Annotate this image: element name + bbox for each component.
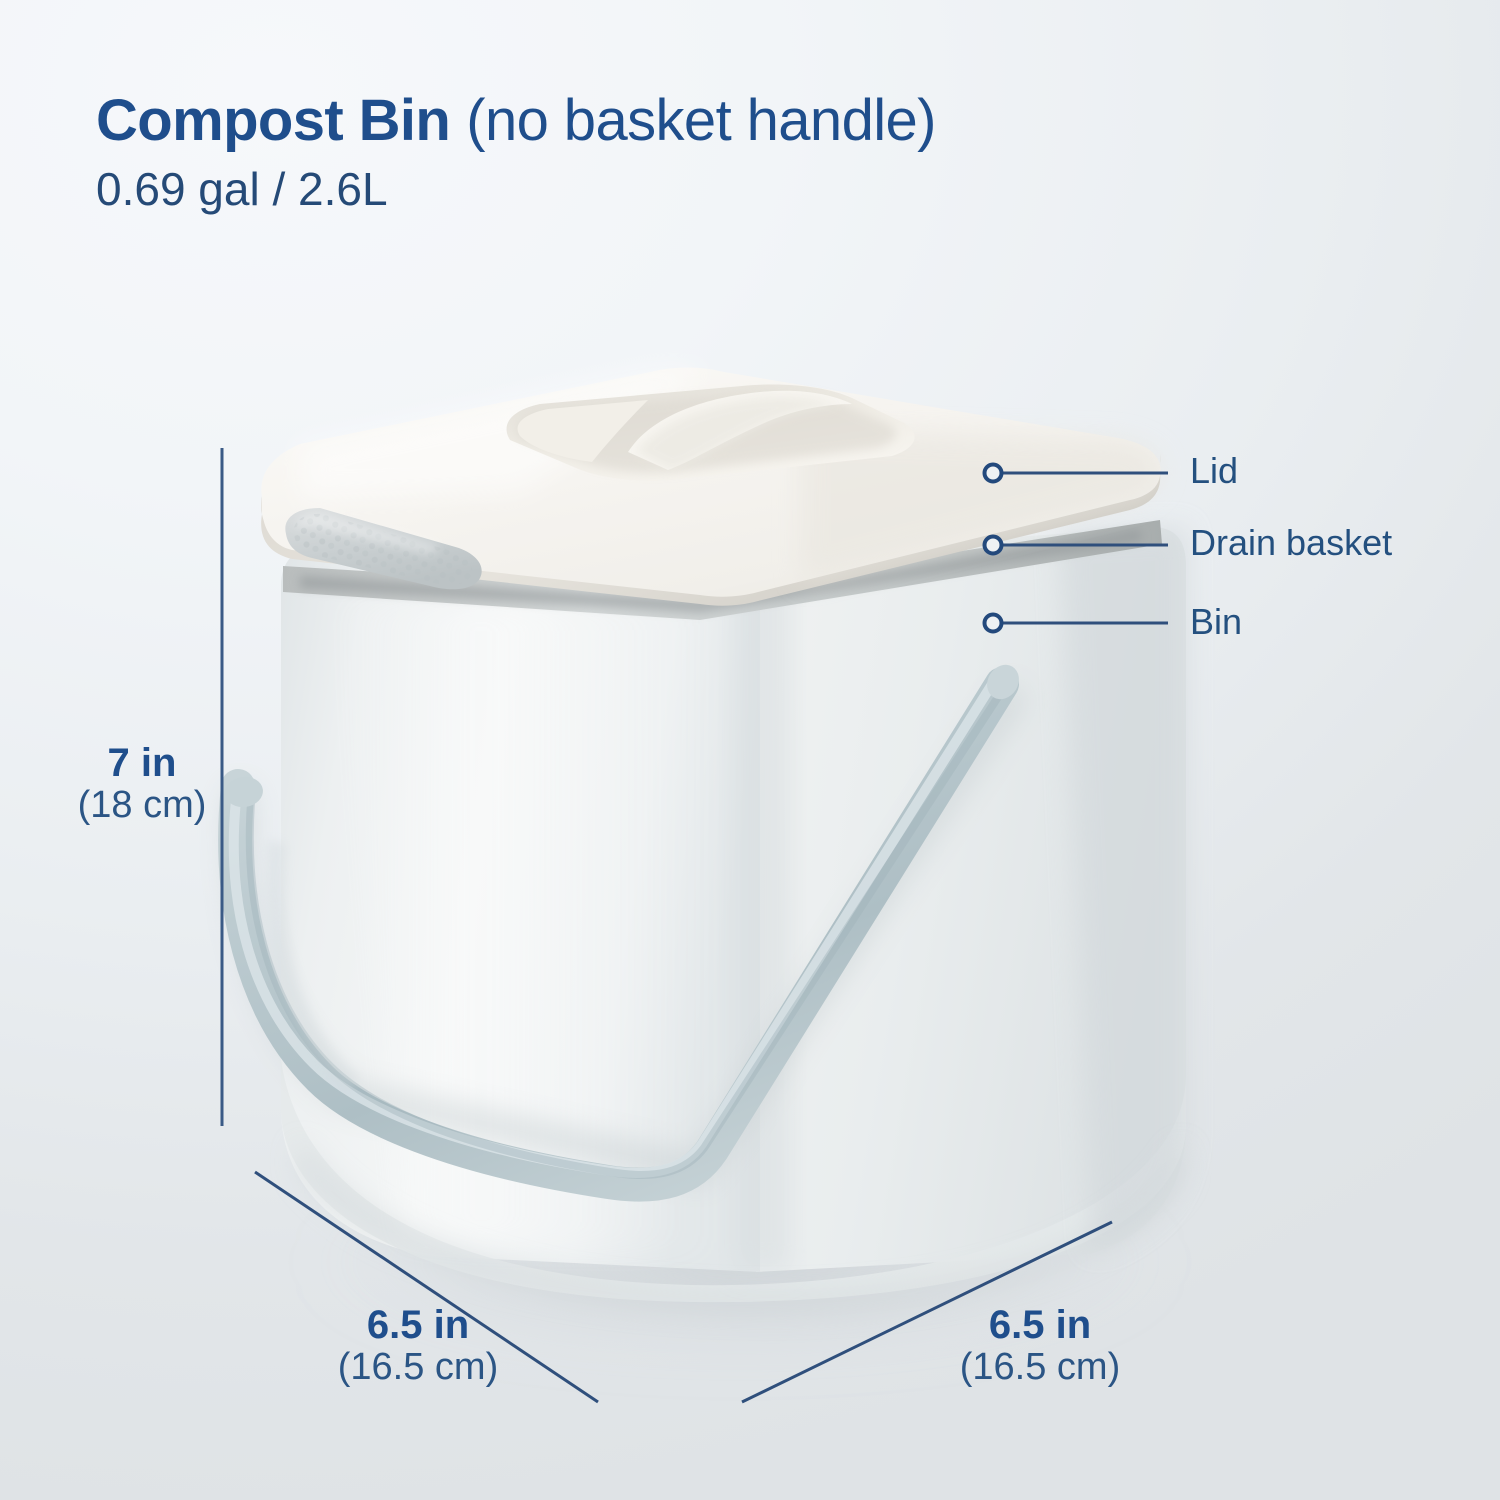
dimension-width-imperial: 6.5 in (278, 1304, 558, 1347)
dimension-height-metric: (18 cm) (36, 785, 248, 826)
infographic-canvas: Compost Bin(no basket handle) 0.69 gal /… (0, 0, 1500, 1500)
dimension-height-imperial: 7 in (36, 742, 248, 785)
callout-leader-bin (985, 615, 1169, 632)
dimension-depth-metric: (16.5 cm) (900, 1347, 1180, 1388)
callout-marker-lid (985, 465, 1002, 482)
dimension-label-depth: 6.5 in (16.5 cm) (900, 1304, 1180, 1388)
callout-label-lid: Lid (1190, 453, 1238, 489)
callout-leader-drain-basket (985, 537, 1169, 554)
callout-label-bin: Bin (1190, 604, 1242, 640)
callout-marker-bin (985, 615, 1002, 632)
dimension-label-width: 6.5 in (16.5 cm) (278, 1304, 558, 1388)
callout-label-drain-basket: Drain basket (1190, 525, 1392, 561)
dimension-width-metric: (16.5 cm) (278, 1347, 558, 1388)
dimension-depth-imperial: 6.5 in (900, 1304, 1180, 1347)
callout-marker-drain-basket (985, 537, 1002, 554)
dimension-label-height: 7 in (18 cm) (36, 742, 248, 826)
callout-leader-lid (985, 465, 1169, 482)
